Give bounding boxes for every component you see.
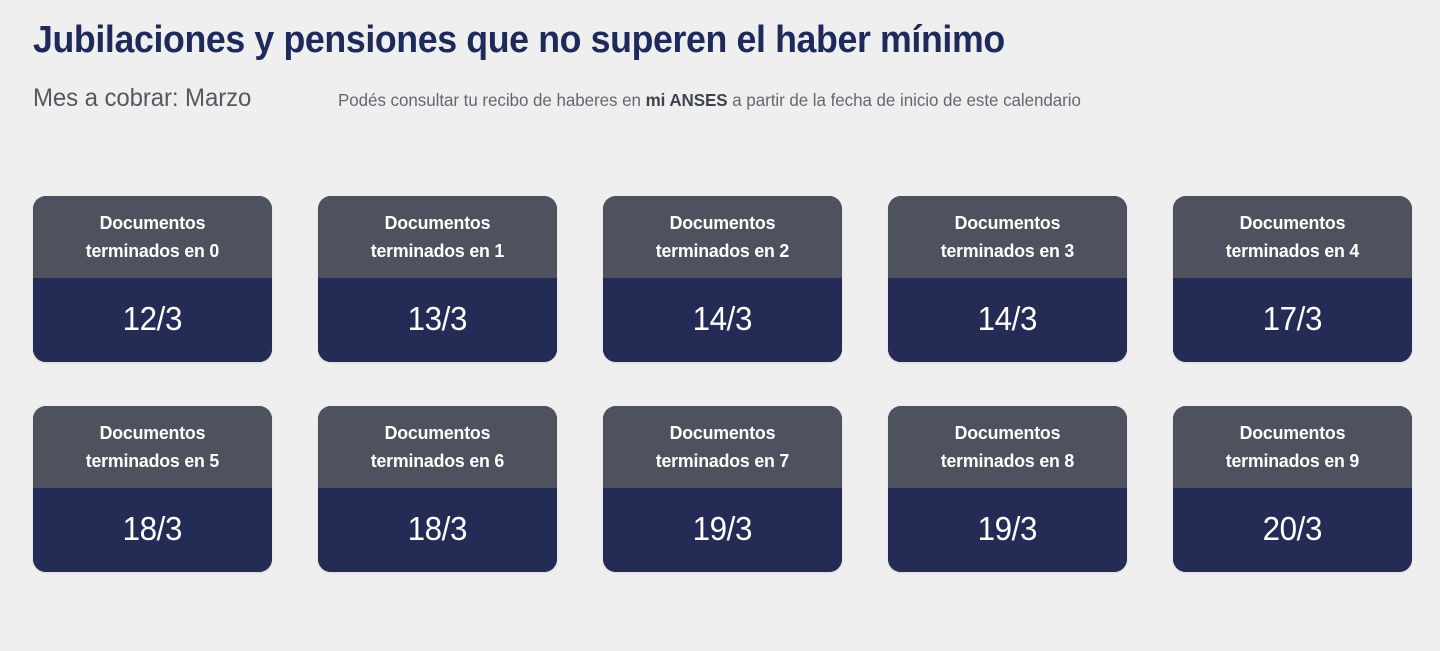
card-header-line1: Documentos — [100, 422, 206, 443]
card-header-line2: terminados en 6 — [371, 450, 504, 471]
card-payment-date: 14/3 — [978, 302, 1038, 335]
card-header-label: Documentosterminados en 3 — [941, 209, 1074, 265]
document-ending-card[interactable]: Documentosterminados en 012/3 — [33, 196, 272, 362]
mi-anses-brand: mi ANSES — [646, 90, 728, 110]
card-header-line2: terminados en 2 — [656, 240, 789, 261]
helper-text-suffix: a partir de la fecha de inicio de este c… — [728, 90, 1081, 110]
card-header-line2: terminados en 3 — [941, 240, 1074, 261]
card-body: 13/3 — [318, 278, 557, 362]
card-header-line1: Documentos — [670, 422, 776, 443]
card-header: Documentosterminados en 3 — [888, 196, 1127, 278]
card-header-line1: Documentos — [1240, 422, 1346, 443]
card-header: Documentosterminados en 4 — [1173, 196, 1412, 278]
card-payment-date: 17/3 — [1263, 302, 1323, 335]
card-header-label: Documentosterminados en 5 — [86, 419, 219, 475]
card-header-label: Documentosterminados en 4 — [1226, 209, 1359, 265]
card-body: 19/3 — [603, 488, 842, 572]
card-header-label: Documentosterminados en 6 — [371, 419, 504, 475]
document-ending-card[interactable]: Documentosterminados en 314/3 — [888, 196, 1127, 362]
card-header-line1: Documentos — [100, 212, 206, 233]
card-payment-date: 19/3 — [693, 512, 753, 545]
month-to-collect-label: Mes a cobrar: Marzo — [33, 84, 251, 113]
card-header: Documentosterminados en 1 — [318, 196, 557, 278]
card-header-line2: terminados en 5 — [86, 450, 219, 471]
payment-calendar-page: Jubilaciones y pensiones que no superen … — [0, 0, 1440, 651]
card-body: 14/3 — [603, 278, 842, 362]
card-payment-date: 19/3 — [978, 512, 1038, 545]
document-ending-card[interactable]: Documentosterminados en 819/3 — [888, 406, 1127, 572]
page-title: Jubilaciones y pensiones que no superen … — [33, 18, 1325, 63]
card-header-line1: Documentos — [385, 212, 491, 233]
document-ending-card[interactable]: Documentosterminados en 719/3 — [603, 406, 842, 572]
card-header-label: Documentosterminados en 1 — [371, 209, 504, 265]
document-ending-card[interactable]: Documentosterminados en 618/3 — [318, 406, 557, 572]
document-ending-card[interactable]: Documentosterminados en 214/3 — [603, 196, 842, 362]
card-header: Documentosterminados en 9 — [1173, 406, 1412, 488]
card-payment-date: 13/3 — [408, 302, 468, 335]
card-header-line2: terminados en 9 — [1226, 450, 1359, 471]
card-header: Documentosterminados en 2 — [603, 196, 842, 278]
document-ending-card[interactable]: Documentosterminados en 113/3 — [318, 196, 557, 362]
card-header-line2: terminados en 7 — [656, 450, 789, 471]
card-header-line1: Documentos — [670, 212, 776, 233]
mi-anses-helper-text: Podés consultar tu recibo de haberes en … — [338, 90, 1081, 111]
card-header: Documentosterminados en 6 — [318, 406, 557, 488]
card-header-line2: terminados en 8 — [941, 450, 1074, 471]
card-header-line1: Documentos — [1240, 212, 1346, 233]
card-payment-date: 20/3 — [1263, 512, 1323, 545]
card-body: 12/3 — [33, 278, 272, 362]
document-ending-card[interactable]: Documentosterminados en 417/3 — [1173, 196, 1412, 362]
card-header-line1: Documentos — [955, 212, 1061, 233]
card-payment-date: 18/3 — [408, 512, 468, 545]
document-ending-card[interactable]: Documentosterminados en 518/3 — [33, 406, 272, 572]
card-payment-date: 14/3 — [693, 302, 753, 335]
card-header: Documentosterminados en 7 — [603, 406, 842, 488]
card-header-label: Documentosterminados en 0 — [86, 209, 219, 265]
page-header: Jubilaciones y pensiones que no superen … — [33, 0, 1407, 113]
card-body: 14/3 — [888, 278, 1127, 362]
card-header: Documentosterminados en 5 — [33, 406, 272, 488]
document-ending-card[interactable]: Documentosterminados en 920/3 — [1173, 406, 1412, 572]
card-header: Documentosterminados en 8 — [888, 406, 1127, 488]
card-header-label: Documentosterminados en 9 — [1226, 419, 1359, 475]
document-ending-card-grid: Documentosterminados en 012/3Documentost… — [33, 196, 1412, 572]
card-body: 19/3 — [888, 488, 1127, 572]
card-payment-date: 12/3 — [123, 302, 183, 335]
card-header-label: Documentosterminados en 7 — [656, 419, 789, 475]
card-body: 20/3 — [1173, 488, 1412, 572]
card-payment-date: 18/3 — [123, 512, 183, 545]
card-header-label: Documentosterminados en 8 — [941, 419, 1074, 475]
card-header-line1: Documentos — [955, 422, 1061, 443]
card-body: 18/3 — [318, 488, 557, 572]
card-header: Documentosterminados en 0 — [33, 196, 272, 278]
card-header-label: Documentosterminados en 2 — [656, 209, 789, 265]
card-header-line1: Documentos — [385, 422, 491, 443]
card-header-line2: terminados en 4 — [1226, 240, 1359, 261]
subheader-row: Mes a cobrar: Marzo Podés consultar tu r… — [33, 84, 1407, 113]
card-body: 17/3 — [1173, 278, 1412, 362]
helper-text-prefix: Podés consultar tu recibo de haberes en — [338, 90, 646, 110]
card-body: 18/3 — [33, 488, 272, 572]
card-header-line2: terminados en 1 — [371, 240, 504, 261]
card-header-line2: terminados en 0 — [86, 240, 219, 261]
